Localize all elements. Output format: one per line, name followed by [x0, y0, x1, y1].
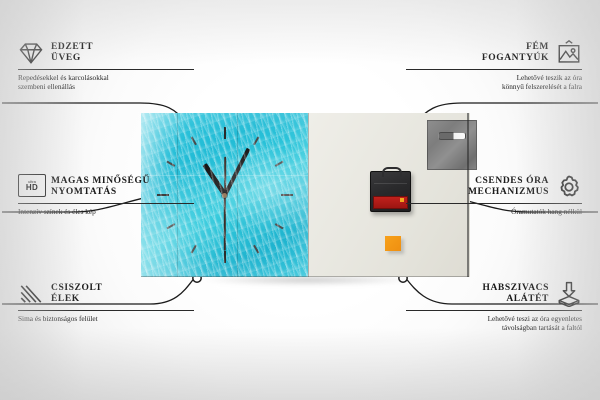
callout-title-2: ALÁTÉT: [482, 294, 549, 306]
callout-desc: Intenzív színek és éles kép: [18, 207, 194, 216]
callout-csiszolt-elek: CSISZOLT ÉLEK Sima és biztonságos felüle…: [18, 281, 194, 323]
foam-pad-icon: [556, 281, 582, 307]
ultra-hd-icon: ultra HD: [18, 174, 44, 200]
callout-title: CSISZOLT: [51, 283, 102, 295]
callout-desc: Sima és biztonságos felület: [18, 314, 194, 323]
callout-title: HABSZIVACS: [482, 283, 549, 295]
callout-edzett-uveg: EDZETT ÜVEG Repedésekkel és karcolásokka…: [18, 40, 194, 91]
callout-divider: [18, 203, 194, 204]
clock-second-hand: [224, 195, 226, 251]
callout-desc-2: szembeni ellenállás: [18, 82, 194, 91]
callout-title-2: ÜVEG: [51, 53, 93, 65]
callout-divider: [406, 310, 582, 311]
callout-habszivacs-alatet: HABSZIVACS ALÁTÉT Lehetővé teszi az óra …: [406, 281, 582, 332]
foam-pad-part: [385, 236, 401, 251]
metal-hanger-part: [427, 120, 477, 170]
picture-hanger-icon: [556, 40, 582, 66]
callout-desc: Lehetővé teszi az óra egyenletes: [406, 314, 582, 323]
callout-title-2: ÉLEK: [51, 294, 102, 306]
callout-desc: Óramutatók hang nélkül: [406, 207, 582, 216]
callout-title: EDZETT: [51, 42, 93, 54]
callout-title: FÉM: [482, 42, 549, 54]
callout-desc: Lehetővé teszik az óra: [406, 73, 582, 82]
callout-divider: [18, 69, 194, 70]
callout-desc-2: távolságban tartását a faltól: [406, 323, 582, 332]
callout-title: CSENDES ÓRA: [468, 176, 549, 188]
callout-fem-fogantyuk: FÉM FOGANTYÚK Lehetővé teszik az óra kön…: [406, 40, 582, 91]
polished-edges-icon: [18, 281, 44, 307]
callout-divider: [406, 69, 582, 70]
clock-minute-hand: [223, 148, 250, 196]
diamond-icon: [18, 40, 44, 66]
callout-title-2: NYOMTATÁS: [51, 187, 150, 199]
ultra-hd-big-text: HD: [26, 184, 38, 192]
callout-magas-minosegu-nyomtatas: ultra HD MAGAS MINŐSÉGŰ NYOMTATÁS Intenz…: [18, 174, 194, 216]
battery-compartment: [373, 196, 408, 209]
clock-second-hand-tail: [224, 157, 226, 195]
callout-desc-2: könnyű felszerelését a falra: [406, 82, 582, 91]
clock-hour-hand: [202, 163, 226, 196]
callout-csendes-ora-mechanizmus: CSENDES ÓRA MECHANIZMUS Óramutatók hang …: [406, 174, 582, 216]
gear-icon: [556, 174, 582, 200]
callout-divider: [406, 203, 582, 204]
callout-title-2: FOGANTYÚK: [482, 53, 549, 65]
callout-divider: [18, 310, 194, 311]
callout-title-2: MECHANIZMUS: [468, 187, 549, 199]
callout-title: MAGAS MINŐSÉGŰ: [51, 176, 150, 188]
clock-center-pin: [222, 193, 227, 198]
clock-mechanism-part: [370, 171, 411, 212]
callout-desc: Repedésekkel és karcolásokkal: [18, 73, 194, 82]
infographic-canvas: EDZETT ÜVEG Repedésekkel és karcolásokka…: [0, 0, 600, 400]
